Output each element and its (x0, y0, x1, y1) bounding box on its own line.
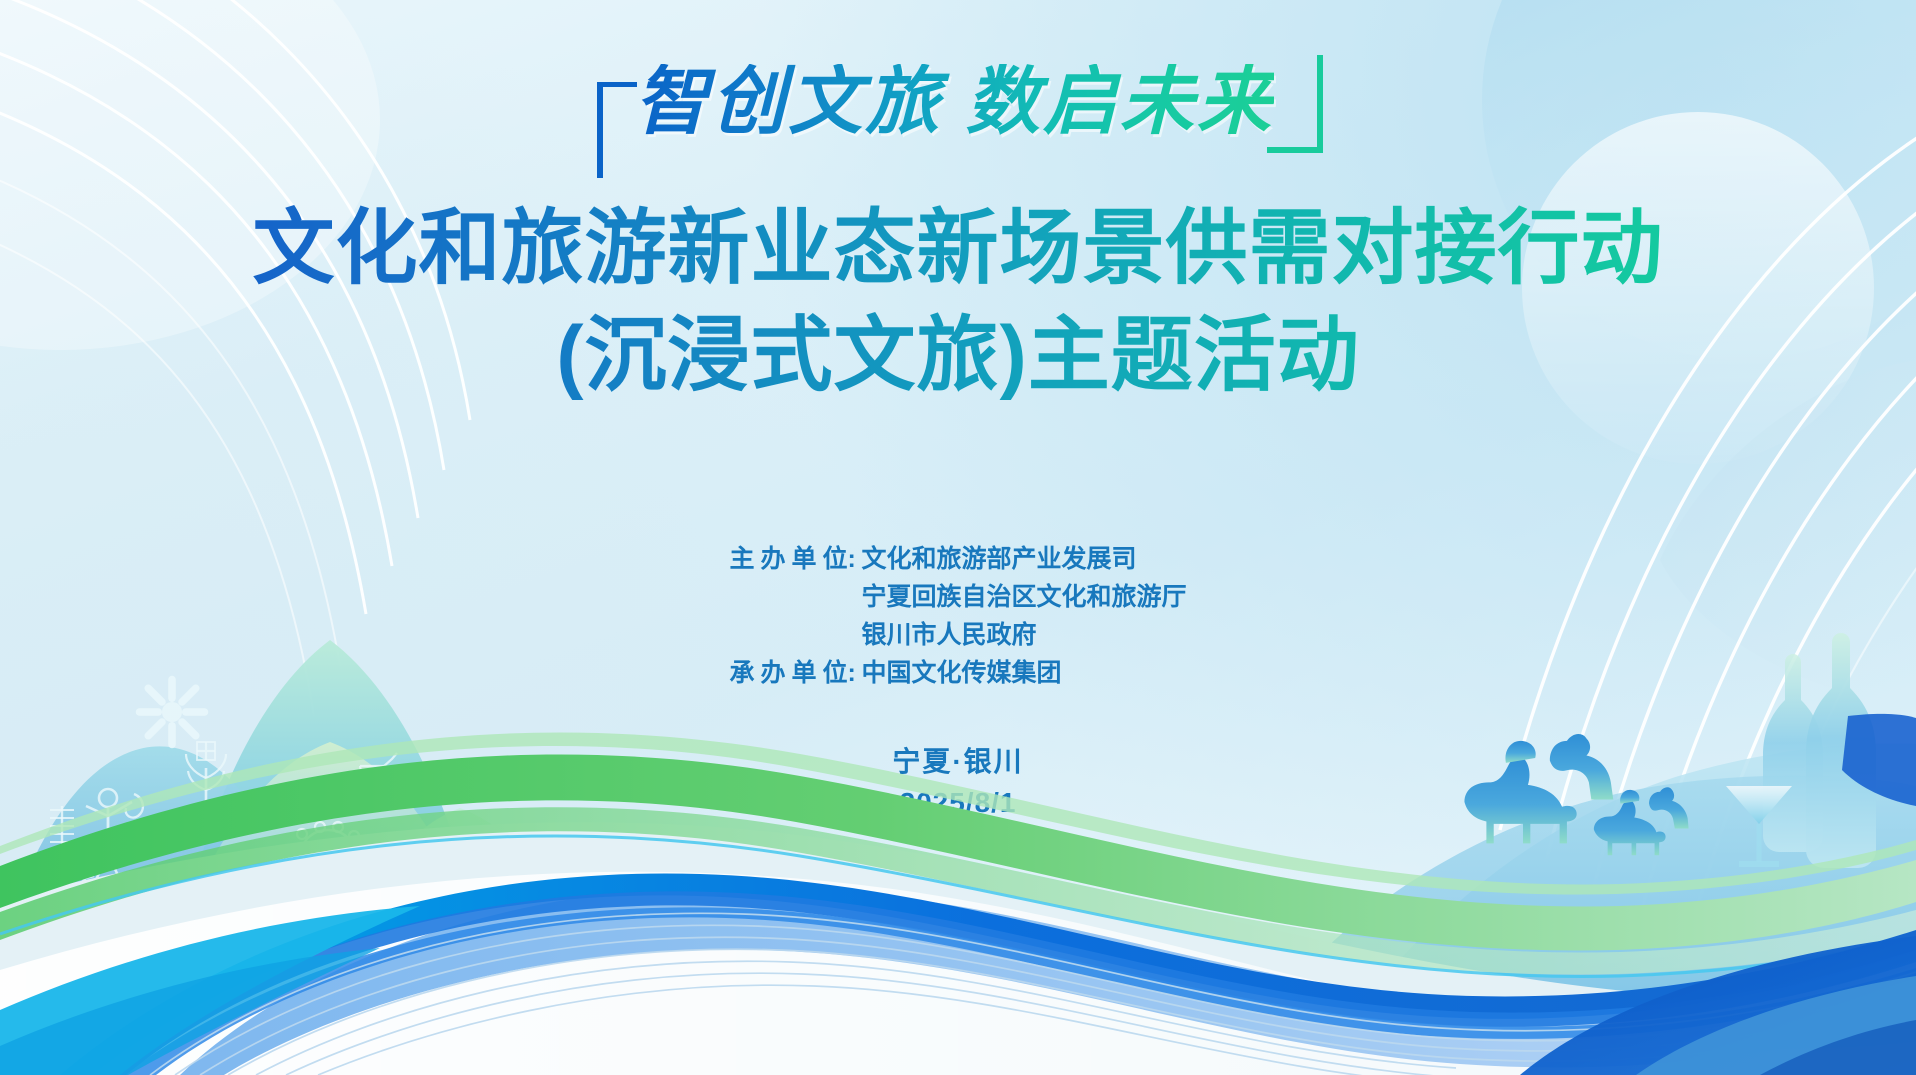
mountains-left (0, 0, 1916, 1075)
organizer-value: 中国文化传媒集团 (861, 654, 1061, 692)
wave-white-sweep (0, 872, 1916, 1075)
wave-cyan-accent-left (0, 906, 420, 1075)
wave-base-pale (0, 822, 1916, 1075)
organizer-value: 银川市人民政府 (861, 616, 1036, 654)
mountain-hill-right (320, 808, 600, 1010)
wave-ribbons-bottom (0, 0, 1916, 1075)
main-title: 文化和旅游新业态新场景供需对接行动 (沉浸式文旅)主题活动 (0, 196, 1916, 409)
wave-blue-tertiary (124, 907, 1916, 1075)
petroglyph-footprint (293, 935, 321, 963)
organizer-label: 承办单位 (729, 654, 847, 692)
organizer-colon (847, 616, 861, 654)
petroglyph-deer-1 (20, 846, 62, 876)
organizer-colon: : (847, 654, 861, 692)
organizer-label: 主办单位 (729, 540, 847, 578)
organizer-colon: : (847, 540, 861, 578)
wave-blue-primary (60, 873, 1916, 1075)
wave-deepblue-plate-right-2 (1760, 1020, 1916, 1075)
arc-lines-right (0, 0, 1916, 1075)
petroglyph-deer-2 (54, 870, 94, 900)
arc-lines-top-left (0, 0, 1916, 1075)
organizer-row: 主办单位 : 文化和旅游部产业发展司 (729, 540, 1186, 578)
title-line-2: (沉浸式文旅)主题活动 (0, 303, 1916, 410)
right-scene (0, 0, 1916, 1075)
organizers-block: 主办单位 : 文化和旅游部产业发展司 宁夏回族自治区文化和旅游厅 银川市人民政府… (0, 540, 1916, 692)
petroglyph-sun-small (196, 926, 232, 962)
wave-steel-plate-right (1636, 976, 1916, 1075)
wave-green-secondary (0, 807, 1916, 974)
wave-cyan-line (0, 836, 1916, 977)
wave-hairlines (150, 913, 1916, 1075)
organizer-row: 承办单位 : 中国文化传媒集团 (729, 654, 1186, 692)
organizer-label (729, 578, 847, 616)
wave-deepblue-plate-right (1520, 936, 1916, 1075)
event-backdrop: 智创文旅 数启未来 文化和旅游新业态新场景供需对接行动 (沉浸式文旅)主题活动 … (0, 0, 1916, 1075)
wave-blue-secondary (92, 891, 1916, 1075)
organizer-row: 宁夏回族自治区文化和旅游厅 (729, 578, 1186, 616)
slogan-block: 智创文旅 数启未来 (0, 64, 1916, 139)
event-place: 宁夏·银川 (0, 742, 1916, 783)
organizer-label (729, 616, 847, 654)
background-blobs-layer (0, 0, 1916, 1075)
organizer-colon (847, 578, 861, 616)
organizer-value: 文化和旅游部产业发展司 (861, 540, 1136, 578)
organizer-value: 宁夏回族自治区文化和旅游厅 (861, 578, 1186, 616)
petroglyph-mask (297, 822, 359, 883)
slogan-text: 智创文旅 数启未来 (634, 64, 1274, 139)
mountain-foreground (220, 884, 488, 1010)
wave-cyan-accent-left-2 (0, 948, 380, 1075)
petroglyph-goat (140, 870, 174, 896)
wave-lightblue-band (180, 886, 1916, 1075)
title-line-1: 文化和旅游新业态新场景供需对接行动 (0, 196, 1916, 303)
mountain-peak-back (170, 640, 492, 1010)
petroglyph-deer-3 (16, 907, 56, 936)
event-meta-block: 宁夏·银川 2025/8/1 (0, 742, 1916, 823)
event-date: 2025/8/1 (0, 783, 1916, 824)
petroglyph-rain (249, 862, 294, 900)
organizer-row: 银川市人民政府 (729, 616, 1186, 654)
petroglyph-deer-4 (116, 916, 153, 944)
